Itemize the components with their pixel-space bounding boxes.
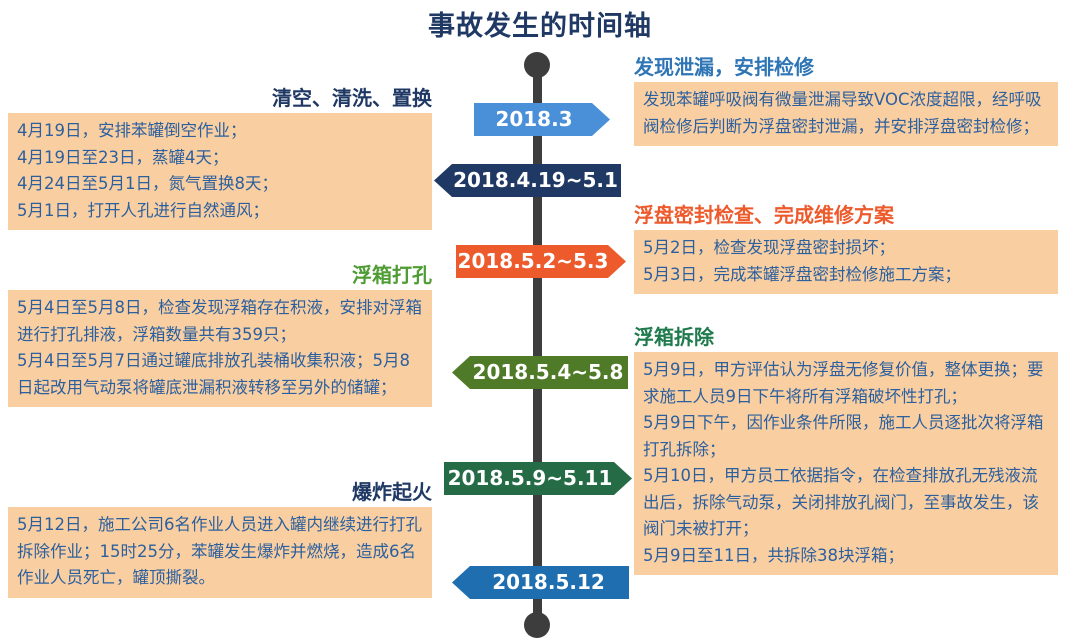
text-paragraph: 5月9日，甲方评估认为浮盘无修复价值，整体更换；要求施工人员9日下午将所有浮箱破… <box>643 357 1050 410</box>
right-section-leak: 发现泄漏，安排检修 发现苯罐呼吸阀有微量泄漏导致VOC浓度超限，经呼吸阀检修后判… <box>634 55 1058 146</box>
page-title: 事故发生的时间轴 <box>0 4 1080 43</box>
right-section-leak-heading: 发现泄漏，安排检修 <box>634 55 1058 80</box>
timeline-axis <box>533 60 542 625</box>
left-section-explosion: 爆炸起火 5月12日，施工公司6名作业人员进入罐内继续进行打孔拆除作业；15时2… <box>8 480 432 598</box>
timeline-chip-2018-5-2[interactable]: 2018.5.2~5.3 <box>456 245 626 278</box>
text-paragraph: 5月4日至5月7日通过罐底排放孔装桶收集积液；5月8日起改用气动泵将罐底泄漏积液… <box>17 348 424 401</box>
text-line: 5月3日，完成苯罐浮盘密封检修施工方案； <box>643 262 1050 289</box>
text-line: 4月19日，安排苯罐倒空作业； <box>17 118 424 145</box>
timeline-chip-2018-5-4[interactable]: 2018.5.4~5.8 <box>452 356 628 389</box>
text-line: 4月24日至5月1日，氮气置换8天； <box>17 171 424 198</box>
left-section-cleaning-body: 4月19日，安排苯罐倒空作业； 4月19日至23日，蒸罐4天； 4月24日至5月… <box>8 113 432 230</box>
right-section-seal-inspection: 浮盘密封检查、完成维修方案 5月2日，检查发现浮盘密封损坏； 5月3日，完成苯罐… <box>634 203 1058 294</box>
timeline-chip-2018-5-12[interactable]: 2018.5.12 <box>452 566 629 599</box>
left-section-explosion-heading: 爆炸起火 <box>8 480 432 505</box>
left-section-cleaning: 清空、清洗、置换 4月19日，安排苯罐倒空作业； 4月19日至23日，蒸罐4天；… <box>8 86 432 230</box>
right-section-pontoon-removal: 浮箱拆除 5月9日，甲方评估认为浮盘无修复价值，整体更换；要求施工人员9日下午将… <box>634 325 1058 575</box>
left-section-drilling-heading: 浮箱打孔 <box>8 263 432 288</box>
timeline-chip-2018-3[interactable]: 2018.3 <box>474 103 610 136</box>
text-line: 4月19日至23日，蒸罐4天； <box>17 145 424 172</box>
timeline-end-dot <box>524 612 550 638</box>
right-section-pontoon-removal-heading: 浮箱拆除 <box>634 325 1058 350</box>
right-section-pontoon-removal-body: 5月9日，甲方评估认为浮盘无修复价值，整体更换；要求施工人员9日下午将所有浮箱破… <box>634 352 1058 575</box>
right-section-leak-body: 发现苯罐呼吸阀有微量泄漏导致VOC浓度超限，经呼吸阀检修后判断为浮盘密封泄漏，并… <box>634 82 1058 146</box>
left-section-drilling: 浮箱打孔 5月4日至5月8日，检查发现浮箱存在积液，安排对浮箱进行打孔排液，浮箱… <box>8 263 432 407</box>
right-section-seal-inspection-body: 5月2日，检查发现浮盘密封损坏； 5月3日，完成苯罐浮盘密封检修施工方案； <box>634 230 1058 294</box>
text-paragraph: 5月12日，施工公司6名作业人员进入罐内继续进行打孔拆除作业；15时25分，苯罐… <box>17 512 424 592</box>
left-section-drilling-body: 5月4日至5月8日，检查发现浮箱存在积液，安排对浮箱进行打孔排液，浮箱数量共有3… <box>8 290 432 407</box>
text-paragraph: 5月4日至5月8日，检查发现浮箱存在积液，安排对浮箱进行打孔排液，浮箱数量共有3… <box>17 295 424 348</box>
timeline-chip-2018-5-9[interactable]: 2018.5.9~5.11 <box>444 462 632 495</box>
text-line: 5月2日，检查发现浮盘密封损坏； <box>643 235 1050 262</box>
left-section-explosion-body: 5月12日，施工公司6名作业人员进入罐内继续进行打孔拆除作业；15时25分，苯罐… <box>8 507 432 598</box>
left-section-cleaning-heading: 清空、清洗、置换 <box>8 86 432 111</box>
text-paragraph: 5月10日，甲方员工依据指令，在检查排放孔无残液流出后，拆除气动泵，关闭排放孔阀… <box>643 463 1050 543</box>
text-paragraph: 5月9日下午，因作业条件所限，施工人员逐批次将浮箱打孔拆除； <box>643 410 1050 463</box>
text-paragraph: 发现苯罐呼吸阀有微量泄漏导致VOC浓度超限，经呼吸阀检修后判断为浮盘密封泄漏，并… <box>643 87 1050 140</box>
timeline-chip-2018-4-19[interactable]: 2018.4.19~5.1 <box>434 164 621 197</box>
text-paragraph: 5月9日至11日，共拆除38块浮箱； <box>643 543 1050 570</box>
right-section-seal-inspection-heading: 浮盘密封检查、完成维修方案 <box>634 203 1058 228</box>
text-line: 5月1日，打开人孔进行自然通风； <box>17 198 424 225</box>
timeline-start-dot <box>524 52 550 78</box>
